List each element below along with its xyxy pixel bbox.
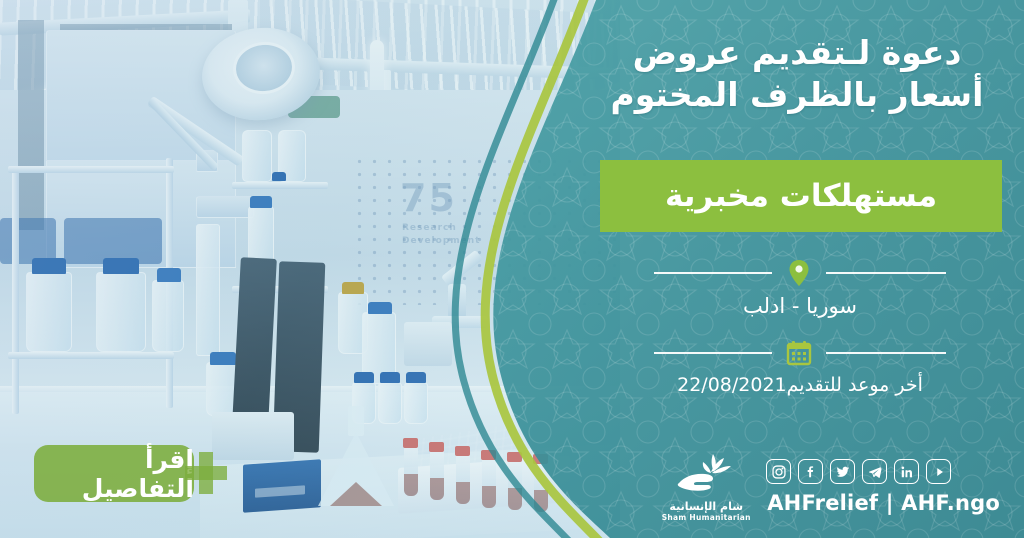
test-tube-cap bbox=[403, 438, 418, 448]
deadline-text: أخر موعد للتقديم22/08/2021 bbox=[604, 374, 996, 396]
linkedin-icon[interactable] bbox=[894, 459, 919, 484]
wall-subtext: Research Development bbox=[402, 222, 522, 248]
shelf-board bbox=[8, 166, 174, 173]
dropper-bottle bbox=[242, 130, 272, 182]
footer: شام الإنسانية Sham Humanitarian bbox=[660, 452, 1000, 522]
bottle-cap bbox=[368, 302, 392, 314]
wall-number: 75 bbox=[400, 176, 457, 220]
read-details-button[interactable]: إقرأ التفاصيل bbox=[34, 445, 194, 502]
test-tube-sample bbox=[456, 482, 470, 504]
location-text: سوريا - ادلب bbox=[604, 294, 996, 318]
category-banner: مستهلكات مخبرية bbox=[600, 160, 1002, 232]
location-pin-icon bbox=[782, 258, 816, 288]
test-tube-sample bbox=[508, 488, 522, 510]
youtube-icon[interactable] bbox=[926, 459, 951, 484]
social-icons-row bbox=[766, 459, 951, 484]
shelf-board bbox=[232, 182, 328, 189]
equipment-panel bbox=[196, 196, 254, 218]
test-tube-cap bbox=[481, 450, 496, 460]
divider-line bbox=[826, 352, 946, 354]
vial-cap bbox=[380, 372, 400, 383]
read-details-label: إقرأ التفاصيل bbox=[34, 445, 194, 503]
test-tube-sample bbox=[404, 474, 418, 496]
bottle-cap bbox=[103, 258, 139, 274]
divider-line bbox=[654, 272, 772, 274]
microscope-body bbox=[448, 284, 466, 318]
vial-cap bbox=[354, 372, 374, 383]
organization-logo: شام الإنسانية Sham Humanitarian bbox=[660, 452, 752, 522]
poster-content: دعوة لـتقديم عروض أسعار بالظرف المختوم م… bbox=[580, 0, 1024, 538]
bottle-cap bbox=[250, 196, 272, 208]
reagent-bottle bbox=[96, 272, 146, 352]
social-handles: AHFrelief | AHF.ngo bbox=[767, 491, 1000, 515]
reagent-bottle bbox=[26, 272, 72, 352]
location-divider-row bbox=[604, 258, 996, 288]
deadline-block: أخر موعد للتقديم22/08/2021 bbox=[604, 338, 996, 396]
wall-dark-column bbox=[18, 20, 44, 230]
hand-with-leaves-logo bbox=[675, 452, 737, 498]
bottle-cap bbox=[210, 352, 236, 365]
page-title: دعوة لـتقديم عروض أسعار بالظرف المختوم bbox=[592, 32, 1002, 116]
shelf-post bbox=[12, 168, 19, 414]
category-banner-label: مستهلكات مخبرية bbox=[665, 178, 937, 214]
telegram-icon[interactable] bbox=[862, 459, 887, 484]
headline-line-2: أسعار بالظرف المختوم bbox=[592, 74, 1002, 116]
twitter-icon[interactable] bbox=[830, 459, 855, 484]
test-tube-cap bbox=[507, 452, 522, 462]
sample-vial bbox=[378, 382, 402, 424]
lab-container bbox=[404, 322, 452, 366]
calendar-icon bbox=[782, 338, 816, 368]
bottle-cap bbox=[32, 258, 66, 274]
vial-cap bbox=[406, 372, 426, 383]
headline-line-1: دعوة لـتقديم عروض bbox=[592, 32, 1002, 74]
facebook-icon[interactable] bbox=[798, 459, 823, 484]
location-block: سوريا - ادلب bbox=[604, 258, 996, 318]
graduated-cylinder bbox=[196, 224, 220, 356]
divider-line bbox=[654, 352, 772, 354]
flask-liquid bbox=[330, 482, 382, 506]
logo-name-english: Sham Humanitarian bbox=[662, 513, 751, 522]
sample-vial bbox=[404, 382, 428, 424]
bottle-cap bbox=[342, 282, 364, 294]
test-tube-cap bbox=[533, 454, 548, 464]
test-tube-sample bbox=[534, 490, 548, 512]
test-tube-sample bbox=[482, 486, 496, 508]
instagram-icon[interactable] bbox=[766, 459, 791, 484]
deadline-divider-row bbox=[604, 338, 996, 368]
monitor-base bbox=[212, 412, 294, 460]
test-tube-cap bbox=[429, 442, 444, 452]
social-and-handles: AHFrelief | AHF.ngo bbox=[766, 459, 1000, 515]
test-tube-cap bbox=[455, 446, 470, 456]
test-tube-sample bbox=[430, 478, 444, 500]
shelf-board bbox=[8, 352, 174, 359]
divider-line bbox=[826, 272, 946, 274]
bottle-cap bbox=[272, 172, 286, 181]
tender-announcement-poster: 75 Research Development bbox=[0, 0, 1024, 538]
reagent-bottle bbox=[152, 280, 184, 352]
bottle-cap bbox=[157, 268, 181, 282]
logo-name-arabic: شام الإنسانية bbox=[669, 500, 743, 513]
